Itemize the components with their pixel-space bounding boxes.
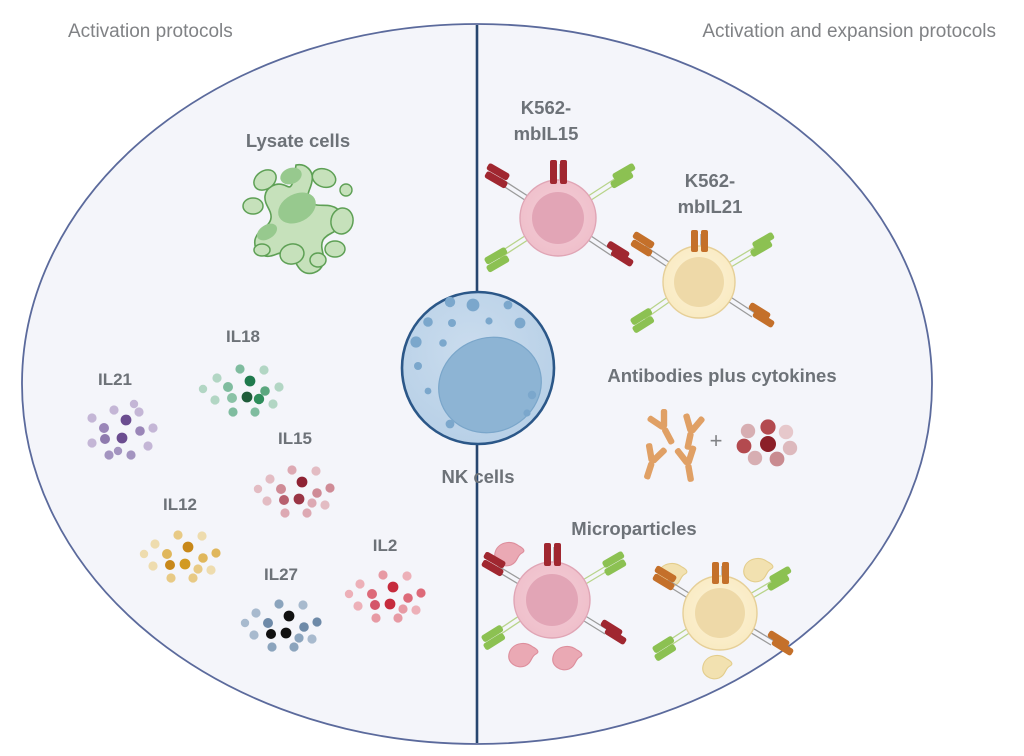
- k562-mbil15-label-line2: mbIL15: [514, 123, 579, 144]
- figure-canvas: Activation protocols Activation and expa…: [0, 0, 1024, 756]
- header-right-title: Activation and expansion protocols: [702, 21, 996, 42]
- cytokine-label-il2: IL2: [373, 536, 398, 555]
- cytokine-label-il18: IL18: [226, 327, 260, 346]
- microparticles-label: Microparticles: [571, 518, 696, 539]
- k562-mbil21-label-line1: K562-: [685, 170, 735, 191]
- k562-mbil15-label-line1: K562-: [521, 97, 571, 118]
- k562-mbil21-label-line2: mbIL21: [678, 196, 743, 217]
- cytokine-label-il21: IL21: [98, 370, 132, 389]
- cytokine-label-il12: IL12: [163, 495, 197, 514]
- plus-sign: +: [710, 428, 723, 453]
- antibodies-plus-cytokines-label: Antibodies plus cytokines: [607, 365, 836, 386]
- nk-cells-label: NK cells: [441, 466, 514, 487]
- cytokine-label-il15: IL15: [278, 429, 312, 448]
- header-left-title: Activation protocols: [68, 21, 233, 42]
- cytokine-label-il27: IL27: [264, 565, 298, 584]
- lysate-cells-label: Lysate cells: [246, 130, 350, 151]
